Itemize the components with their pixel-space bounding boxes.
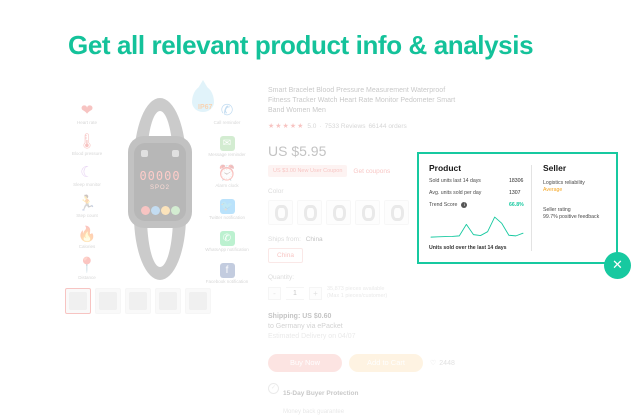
info-icon[interactable]: i <box>461 202 467 208</box>
shipping-cost: Shipping: US $0.60 <box>268 312 468 322</box>
screen-steps-icon <box>171 206 180 215</box>
thumbnail-1[interactable] <box>65 288 91 314</box>
shipping-destination: to Germany via ePacket <box>268 322 468 332</box>
star-rating-icon: ★★★★★ <box>268 122 304 130</box>
panel-product-section: Product Sold units last 14 days18306Avg.… <box>419 154 531 262</box>
screen-heart-icon <box>141 206 150 215</box>
thumbnail-image <box>99 292 117 310</box>
add-to-wishlist-button[interactable]: ♡ 2448 <box>430 359 455 367</box>
quantity-note-line1: 35,873 pieces available <box>327 286 385 292</box>
logistics-reliability-label: Logistics reliability <box>543 180 616 187</box>
rating-sep: · <box>319 123 321 130</box>
thumbnail-image <box>69 292 87 310</box>
shipping-info: Shipping: US $0.60 to Germany via ePacke… <box>268 312 468 342</box>
thumbnail-3[interactable] <box>125 288 151 314</box>
swatch-watch-icon <box>362 205 375 221</box>
watch-screen: 00000 SPO2 <box>134 143 186 221</box>
whatsapp-icon: ✆ <box>220 231 235 246</box>
screen-reading-unit: SPO2 <box>134 185 186 191</box>
buyer-protection: ✓ 15-Day Buyer Protection Money back gua… <box>268 382 468 418</box>
quantity-input[interactable]: 1 <box>286 287 304 300</box>
thumbnail-4[interactable] <box>155 288 181 314</box>
rating-row: ★★★★★ 5.0 · 7533 Reviews 66144 orders <box>268 122 468 130</box>
product-gallery: IP67 ❤Heart rate🌡Blood pressure☾Sleep mo… <box>60 86 258 331</box>
thumbnail-image <box>129 292 147 310</box>
stat-row: Sold units last 14 days18306 <box>429 178 531 185</box>
color-swatch-5[interactable] <box>384 200 409 225</box>
shield-check-icon: ✓ <box>268 383 279 394</box>
get-coupons-link[interactable]: Get coupons <box>353 168 390 175</box>
coupon-badge: US $3.00 New User Coupon <box>268 165 347 177</box>
thumbnail-5[interactable] <box>185 288 211 314</box>
ships-from-value: China <box>306 236 323 243</box>
cta-row: Buy Now Add to Cart ♡ 2448 <box>268 354 468 372</box>
screen-status-row <box>141 149 179 157</box>
screen-reading-value: 00000 <box>134 169 186 183</box>
quantity-note-line2: (Max 1 pieces/customer) <box>327 293 387 299</box>
color-swatch-2[interactable] <box>297 200 322 225</box>
color-swatch-3[interactable] <box>326 200 351 225</box>
swatch-watch-icon <box>391 205 404 221</box>
panel-seller-heading: Seller <box>543 163 616 173</box>
buyer-protection-title: 15-Day Buyer Protection <box>283 390 359 397</box>
screen-icon-right <box>172 150 179 157</box>
order-count: 66144 orders <box>368 123 406 130</box>
panel-spacer <box>543 194 616 200</box>
stat-row: Trend Scorei66.8% <box>429 202 531 209</box>
quantity-increment-button[interactable]: + <box>309 287 322 300</box>
buy-now-button[interactable]: Buy Now <box>268 354 342 372</box>
stat-value: 66.8% <box>509 202 531 209</box>
panel-seller-section: Seller Logistics reliability Average Sel… <box>532 154 616 262</box>
logistics-reliability-value: Average <box>543 187 616 194</box>
stat-label: Sold units last 14 days <box>429 178 509 185</box>
ships-from-option-china[interactable]: China <box>268 248 303 263</box>
seller-rating-label: Seller rating <box>543 207 616 214</box>
screen-icon-row <box>140 206 180 215</box>
panel-product-heading: Product <box>429 163 531 173</box>
quantity-decrement-button[interactable]: - <box>268 287 281 300</box>
seller-rating-value: 99.7% positive feedback <box>543 214 616 221</box>
thumbnail-image <box>159 292 177 310</box>
units-sold-sparkline-chart <box>429 213 525 241</box>
quantity-availability-note: 35,873 pieces available (Max 1 pieces/cu… <box>327 286 387 300</box>
rating-value: 5.0 <box>307 123 316 130</box>
ships-from-label-text: Ships from: <box>268 236 301 243</box>
screen-flame-icon <box>161 206 170 215</box>
page-title: Get all relevant product info & analysis <box>68 30 533 61</box>
watch-body: 00000 SPO2 <box>128 136 192 228</box>
facebook-icon: f <box>220 263 235 278</box>
product-title: Smart Bracelet Blood Pressure Measuremen… <box>268 86 464 116</box>
analytics-panel: Product Sold units last 14 days18306Avg.… <box>417 152 618 264</box>
quantity-label: Quantity: <box>268 274 468 281</box>
stat-label: Trend Scorei <box>429 202 509 209</box>
thumbnail-2[interactable] <box>95 288 121 314</box>
swatch-watch-icon <box>275 205 288 221</box>
buyer-protection-subtitle: Money back guarantee <box>283 409 344 415</box>
thumbnail-image <box>189 292 207 310</box>
swatch-watch-icon <box>333 205 346 221</box>
stat-value: 1307 <box>509 190 531 197</box>
message-reminder-icon: ✉ <box>220 136 235 151</box>
quantity-stepper[interactable]: - 1 + 35,873 pieces available (Max 1 pie… <box>268 286 468 300</box>
stat-value: 18306 <box>509 178 531 185</box>
screen-icon-left <box>141 150 148 157</box>
screen-drop-icon <box>151 206 160 215</box>
heart-icon: ♡ <box>430 359 436 367</box>
review-count[interactable]: 7533 Reviews <box>325 123 366 130</box>
sparkline-caption: Units sold over the last 14 days <box>429 245 531 251</box>
close-icon[interactable]: ✕ <box>604 252 631 279</box>
wishlist-count: 2448 <box>439 360 455 367</box>
promo-slide: Get all relevant product info & analysis… <box>0 0 640 400</box>
shipping-estimate: Estimated Delivery on 04/07 <box>268 332 468 342</box>
stat-label: Avg. units sold per day <box>429 190 509 197</box>
stat-row: Avg. units sold per day1307 <box>429 190 531 197</box>
thumbnail-strip[interactable] <box>65 288 211 314</box>
swatch-watch-icon <box>304 205 317 221</box>
product-stat-list: Sold units last 14 days18306Avg. units s… <box>429 178 531 209</box>
product-hero-image[interactable]: 00000 SPO2 <box>100 94 220 284</box>
color-swatch-1[interactable] <box>268 200 293 225</box>
color-swatch-4[interactable] <box>355 200 380 225</box>
buyer-protection-text: 15-Day Buyer Protection Money back guara… <box>283 382 359 418</box>
twitter-icon: 🐦 <box>220 199 235 214</box>
add-to-cart-button[interactable]: Add to Cart <box>349 354 423 372</box>
